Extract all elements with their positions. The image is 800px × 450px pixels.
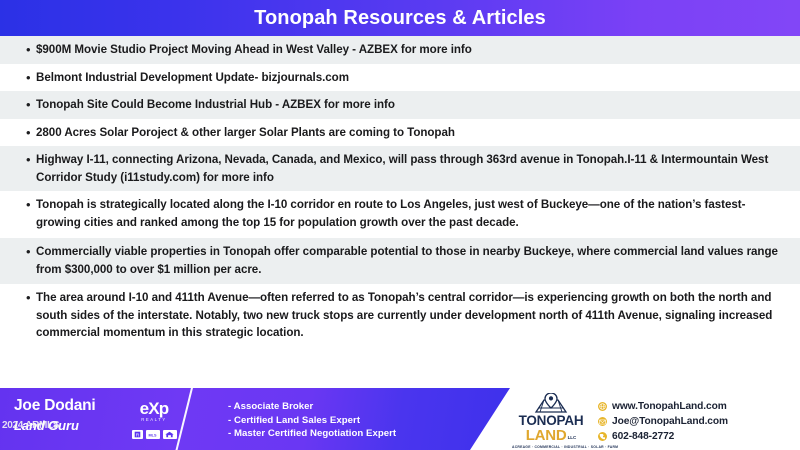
resources-list: • $900M Movie Studio Project Moving Ahea… xyxy=(0,36,800,388)
phone-icon xyxy=(598,432,607,441)
list-item-text: 2800 Acres Solar Poroject & other larger… xyxy=(36,124,786,142)
brokerage-logo-word: eXp xyxy=(128,400,180,417)
contact-phone-text: 602-848-2772 xyxy=(612,430,674,443)
slide-root: Tonopah Resources & Articles • $900M Mov… xyxy=(0,0,800,450)
bullet-icon: • xyxy=(26,96,36,113)
contact-website-text: www.TonopahLand.com xyxy=(612,400,727,413)
agent-tagline: Land Guru xyxy=(14,417,134,435)
list-item-text: Tonopah Site Could Become Industrial Hub… xyxy=(36,96,786,114)
mls-icon: MLS xyxy=(146,430,160,439)
slide-footer: Joe Dodani Land Guru eXp realty R MLS - … xyxy=(0,388,800,450)
realtor-icon: R xyxy=(132,430,143,439)
contact-email-text: Joe@TonopahLand.com xyxy=(612,415,728,428)
map-pin-icon xyxy=(528,393,574,414)
list-item[interactable]: • Belmont Industrial Development Update-… xyxy=(0,64,800,92)
contact-list: www.TonopahLand.com Joe@TonopahLand.com … xyxy=(598,400,728,443)
contact-website[interactable]: www.TonopahLand.com xyxy=(598,400,728,413)
bullet-icon: • xyxy=(26,243,36,260)
list-item[interactable]: • $900M Movie Studio Project Moving Ahea… xyxy=(0,36,800,64)
agent-identity: Joe Dodani Land Guru xyxy=(14,397,134,435)
company-logo-suffix: LLC xyxy=(568,434,577,441)
svg-text:R: R xyxy=(135,432,139,438)
list-item-text: Belmont Industrial Development Update- b… xyxy=(36,69,786,87)
list-item-text: $900M Movie Studio Project Moving Ahead … xyxy=(36,41,786,59)
bullet-icon: • xyxy=(26,41,36,58)
svg-text:MLS: MLS xyxy=(149,433,157,437)
credential-item: - Master Certified Negotiation Expert xyxy=(228,427,396,441)
brokerage-logo-sub: realty xyxy=(128,417,180,423)
company-logo-line2-wrap: LAND LLC xyxy=(512,428,590,443)
brokerage-logo: eXp realty R MLS xyxy=(128,400,180,439)
envelope-icon xyxy=(598,417,607,426)
credential-item: - Associate Broker xyxy=(228,400,396,414)
credential-item: - Certified Land Sales Expert xyxy=(228,414,396,428)
page-title: Tonopah Resources & Articles xyxy=(254,8,546,28)
list-item-text: Tonopah is strategically located along t… xyxy=(36,196,786,231)
list-item[interactable]: • 2800 Acres Solar Poroject & other larg… xyxy=(0,119,800,147)
globe-icon xyxy=(598,402,607,411)
list-item-text: The area around I-10 and 411th Avenue—of… xyxy=(36,289,786,342)
list-item[interactable]: • Tonopah Site Could Become Industrial H… xyxy=(0,91,800,119)
company-logo-line2: LAND xyxy=(526,428,567,443)
bullet-icon: • xyxy=(26,196,36,213)
contact-email[interactable]: Joe@TonopahLand.com xyxy=(598,415,728,428)
brokerage-badges: R MLS xyxy=(128,430,180,439)
agent-name: Joe Dodani xyxy=(14,397,134,415)
list-item[interactable]: • Tonopah is strategically located along… xyxy=(0,191,800,238)
bullet-icon: • xyxy=(26,69,36,86)
list-item[interactable]: • The area around I-10 and 411th Avenue—… xyxy=(0,284,800,348)
agent-credentials: - Associate Broker - Certified Land Sale… xyxy=(228,400,396,441)
list-item-text: Commercially viable properties in Tonopa… xyxy=(36,243,786,278)
bullet-icon: • xyxy=(26,289,36,306)
list-item[interactable]: • Highway I-11, connecting Arizona, Neva… xyxy=(0,146,800,191)
slide-header: Tonopah Resources & Articles xyxy=(0,0,800,36)
contact-phone[interactable]: 602-848-2772 xyxy=(598,430,728,443)
list-item[interactable]: • Commercially viable properties in Tono… xyxy=(0,238,800,284)
company-logo-line1: TONOPAH xyxy=(512,414,590,428)
bullet-icon: • xyxy=(26,124,36,141)
company-logo: TONOPAH LAND LLC ACREAGE · COMMERCIAL · … xyxy=(512,393,590,450)
bullet-icon: • xyxy=(26,151,36,168)
list-item-text: Highway I-11, connecting Arizona, Nevada… xyxy=(36,151,786,186)
company-logo-tagline: ACREAGE · COMMERCIAL · INDUSTRIAL · SOLA… xyxy=(512,444,590,450)
equal-housing-icon xyxy=(163,430,177,439)
